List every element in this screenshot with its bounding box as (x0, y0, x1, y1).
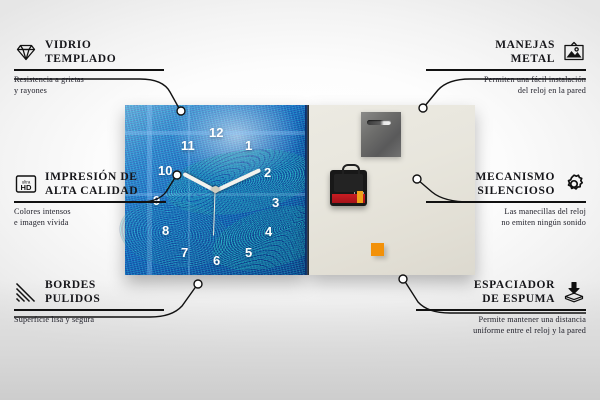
foam-spacer-arrow-icon (562, 280, 586, 304)
feature-description: Permiten una fácil instalación del reloj… (426, 74, 586, 96)
hanger-keyhole-slot (367, 120, 391, 125)
diamond-icon (14, 40, 38, 64)
feature-title: BORDES PULIDOS (45, 278, 100, 306)
feature-title: IMPRESIÓN DE ALTA CALIDAD (45, 170, 138, 198)
clock-center-pivot (212, 186, 219, 193)
clock-numeral-12: 12 (209, 125, 223, 140)
polished-edges-icon (14, 280, 38, 304)
clock-numeral-3: 3 (272, 195, 279, 210)
clock-minute-hand (214, 168, 261, 192)
feature-description: Permite mantener una distancia uniforme … (416, 314, 586, 336)
mechanism-label (332, 194, 365, 203)
clock-numeral-6: 6 (213, 253, 220, 268)
feature-divider (14, 309, 164, 311)
feature-description: Superficie lisa y segura (14, 314, 164, 325)
feature-divider (426, 201, 586, 203)
clock-numeral-5: 5 (245, 245, 252, 260)
clock-numeral-7: 7 (181, 245, 188, 260)
clock-mechanism (330, 170, 367, 206)
feature-description: Resistencia a grietas y rayones (14, 74, 164, 96)
feature-title: VIDRIO TEMPLADO (45, 38, 116, 66)
clock-second-hand (213, 190, 216, 236)
feature-impresion-alta-calidad[interactable]: ultra HD IMPRESIÓN DE ALTA CALIDAD Color… (14, 170, 166, 228)
feature-vidrio-templado[interactable]: VIDRIO TEMPLADO Resistencia a grietas y … (14, 38, 164, 96)
svg-text:HD: HD (21, 183, 32, 192)
foam-spacer (371, 243, 384, 256)
anchor-dot-bordes (194, 280, 202, 288)
feature-espaciador-espuma[interactable]: ESPACIADOR DE ESPUMA Permite mantener un… (416, 278, 586, 336)
feature-manejas-metal[interactable]: MANEJAS METAL Permiten una fácil instala… (426, 38, 586, 96)
clock-numeral-4: 4 (265, 224, 272, 239)
feature-divider (14, 69, 164, 71)
clock-numeral-2: 2 (264, 165, 271, 180)
anchor-dot-espaciador (399, 275, 407, 283)
feature-divider (14, 201, 166, 203)
feature-title: MECANISMO SILENCIOSO (475, 170, 555, 198)
feature-bordes-pulidos[interactable]: BORDES PULIDOS Superficie lisa y segura (14, 278, 164, 325)
gear-icon (562, 172, 586, 196)
feature-title: MANEJAS METAL (495, 38, 555, 66)
feature-description: Las manecillas del reloj no emiten ningú… (426, 206, 586, 228)
feature-description: Colores intensos e imagen vívida (14, 206, 166, 228)
feature-divider (416, 309, 586, 311)
feature-title: ESPACIADOR DE ESPUMA (474, 278, 555, 306)
infographic-canvas: 12 1 2 3 4 5 6 7 8 9 10 11 (0, 0, 600, 400)
picture-frame-hanger-icon (562, 40, 586, 64)
mechanism-hook (342, 164, 360, 174)
clock-numeral-11: 11 (181, 138, 195, 153)
mechanism-housing (334, 174, 363, 192)
clock-numeral-1: 1 (245, 138, 252, 153)
ultra-hd-icon: ultra HD (14, 172, 38, 196)
feature-mecanismo-silencioso[interactable]: MECANISMO SILENCIOSO Las manecillas del … (426, 170, 586, 228)
product-image: 12 1 2 3 4 5 6 7 8 9 10 11 (125, 105, 475, 275)
feature-divider (426, 69, 586, 71)
metal-hanger-plate (361, 112, 401, 157)
